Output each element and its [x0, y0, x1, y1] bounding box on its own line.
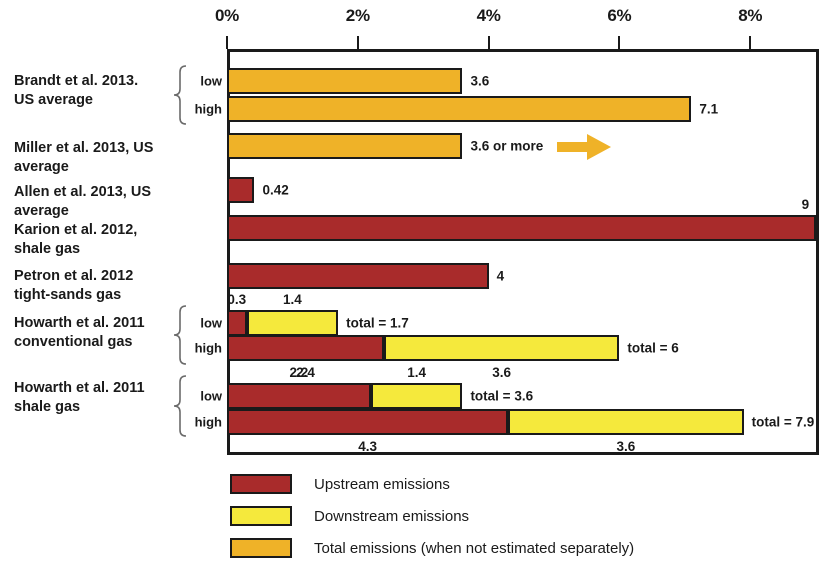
- legend-label: Upstream emissions: [314, 476, 450, 493]
- category-label: Karion et al. 2012, shale gas: [14, 221, 164, 259]
- x-axis-tickmark: [749, 36, 751, 49]
- bar-segment-upstream: [227, 263, 489, 289]
- segment-value-label: 4.3: [358, 439, 377, 454]
- bar-segment-upstream: [227, 177, 254, 203]
- category-label: Brandt et al. 2013. US average: [14, 72, 164, 110]
- x-axis-tick-label: 2%: [346, 6, 370, 26]
- bar-segment-downstream: [247, 310, 339, 336]
- bar-total-label: 3.6: [470, 74, 489, 89]
- legend-swatch-total: [230, 538, 292, 558]
- legend-swatch-upstream: [230, 474, 292, 494]
- x-axis-tick-label: 8%: [738, 6, 762, 26]
- legend-swatch-downstream: [230, 506, 292, 526]
- x-axis-labels: 0%2%4%6%8%: [0, 0, 839, 34]
- x-axis-tick-label: 6%: [607, 6, 631, 26]
- segment-value-label: 3.6: [617, 439, 636, 454]
- x-axis-tickmark: [226, 36, 228, 49]
- legend-item: Downstream emissions: [230, 502, 634, 530]
- bar-total-label: 3.6 or more: [470, 139, 543, 154]
- legend: Upstream emissionsDownstream emissionsTo…: [230, 470, 634, 566]
- bar-total-label: total = 3.6: [470, 389, 533, 404]
- bar-total-label: 0.42: [262, 183, 288, 198]
- segment-value-label: 3.6: [492, 365, 511, 380]
- bar-total-label: total = 1.7: [346, 316, 409, 331]
- segment-value-label: 2.2: [290, 365, 309, 380]
- bar-total-label: total = 7.9: [752, 415, 815, 430]
- bar-total-label: 7.1: [699, 102, 718, 117]
- bar-segment-total: [227, 68, 462, 94]
- category-label: Allen et al. 2013, US average: [14, 183, 164, 221]
- x-axis-tick-label: 0%: [215, 6, 239, 26]
- x-axis-tickmark: [618, 36, 620, 49]
- x-axis-tick-label: 4%: [477, 6, 501, 26]
- category-label: Howarth et al. 2011 shale gas: [14, 379, 164, 417]
- legend-label: Downstream emissions: [314, 508, 469, 525]
- bar-segment-upstream: [227, 310, 247, 336]
- legend-label: Total emissions (when not estimated sepa…: [314, 540, 634, 557]
- bar-segment-total: [227, 133, 462, 159]
- bar-segment-upstream: [227, 383, 371, 409]
- bar-segment-downstream: [508, 409, 743, 435]
- segment-value-label: 1.4: [283, 292, 302, 307]
- x-axis-tickmark: [488, 36, 490, 49]
- bar-total-label: total = 6: [627, 341, 678, 356]
- legend-item: Total emissions (when not estimated sepa…: [230, 534, 634, 562]
- bar-segment-upstream: [227, 335, 384, 361]
- bar-segment-total: [227, 96, 691, 122]
- category-label: Miller et al. 2013, US average: [14, 139, 164, 177]
- segment-value-label: 0.3: [227, 292, 246, 307]
- segment-value-label: 1.4: [407, 365, 426, 380]
- more-arrow-icon: [557, 131, 613, 168]
- x-axis-tickmark: [357, 36, 359, 49]
- bar-segment-downstream: [371, 383, 463, 409]
- bar-segment-downstream: [384, 335, 619, 361]
- category-label: Petron et al. 2012 tight-sands gas: [14, 267, 164, 305]
- bar-total-label: 4: [497, 269, 505, 284]
- emissions-bar-chart: 0%2%4%6%8% low3.6high7.13.6 or more0.429…: [0, 0, 839, 568]
- bar-total-label: 9: [802, 197, 810, 212]
- legend-item: Upstream emissions: [230, 470, 634, 498]
- bar-segment-upstream: [227, 409, 508, 435]
- category-label: Howarth et al. 2011 conventional gas: [14, 314, 164, 352]
- bar-segment-upstream: [227, 215, 816, 241]
